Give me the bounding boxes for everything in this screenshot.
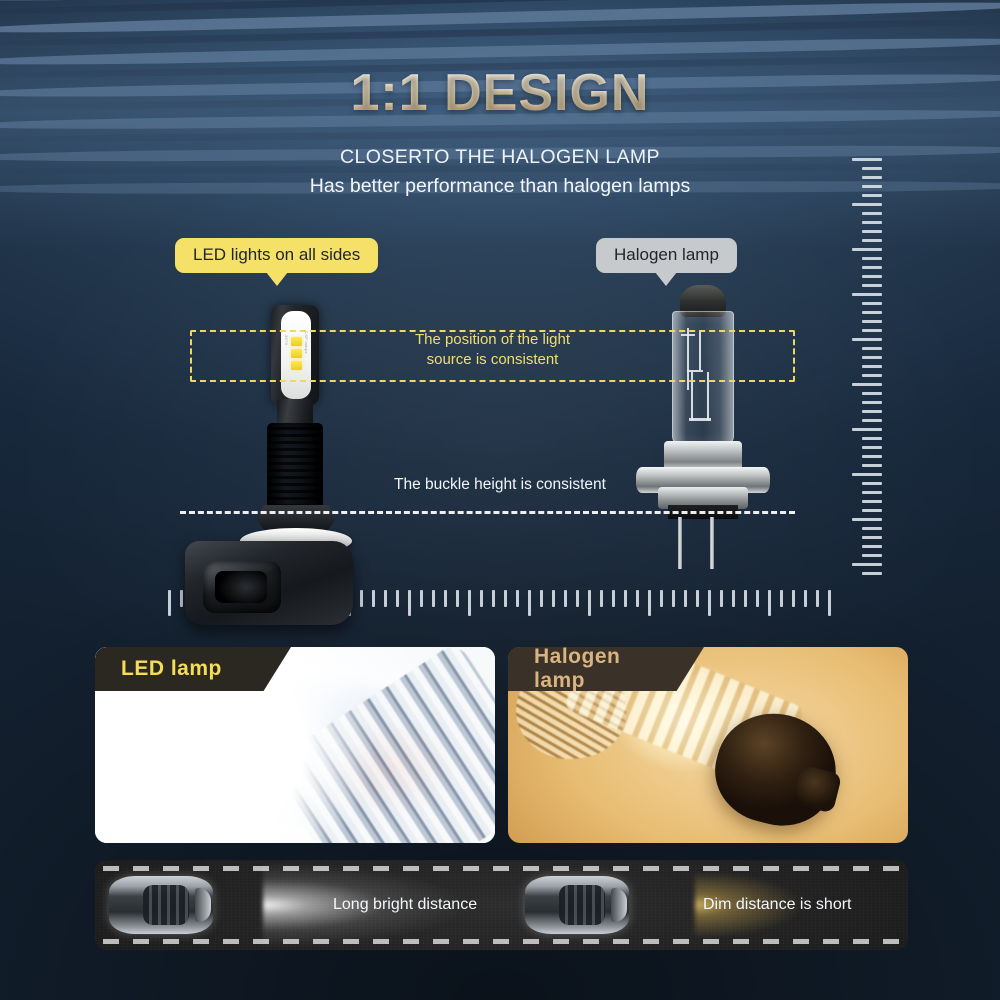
ruler-tick	[468, 590, 471, 616]
ruler-tick	[862, 572, 882, 575]
beam-comparison-strip: Long bright distance Dim distance is sho…	[95, 860, 908, 950]
ruler-tick	[684, 590, 687, 607]
ruler-tick	[636, 590, 639, 607]
callout-tail-icon	[266, 272, 288, 286]
ruler-tick	[852, 248, 882, 251]
ruler-tick	[720, 590, 723, 607]
ruler-tick	[432, 590, 435, 607]
ruler-tick	[862, 176, 882, 179]
callout-led-label: LED lights on all sides	[193, 245, 360, 264]
ruler-tick	[708, 590, 711, 616]
page-title: 1:1 DESIGN	[0, 63, 1000, 123]
ruler-tick	[862, 212, 882, 215]
ruler-tick	[384, 590, 387, 607]
ruler-tick	[862, 455, 882, 458]
ruler-tick	[816, 590, 819, 607]
ruler-tick	[660, 590, 663, 607]
ruler-tick	[360, 590, 363, 607]
ruler-tick	[492, 590, 495, 607]
vertical-ruler	[840, 158, 882, 588]
ruler-tick	[862, 185, 882, 188]
halogen-panel-banner: Halogen lamp	[508, 647, 704, 691]
ruler-tick	[862, 302, 882, 305]
ruler-tick	[862, 374, 882, 377]
callout-tail-icon	[655, 272, 677, 286]
ruler-tick	[862, 320, 882, 323]
beam-label-long-bright: Long bright distance	[333, 896, 477, 914]
ruler-tick	[852, 518, 882, 521]
ruler-tick	[552, 590, 555, 607]
callout-halogen-lamp: Halogen lamp	[596, 238, 737, 273]
ruler-tick	[696, 590, 699, 607]
car-nose-icon	[611, 888, 627, 922]
led-heatsink-fins	[267, 423, 323, 509]
ruler-tick	[588, 590, 591, 616]
halogen-filament-icon	[689, 418, 711, 421]
ruler-tick	[564, 590, 567, 607]
callout-led-lights: LED lights on all sides	[175, 238, 378, 273]
light-source-line-2: source is consistent	[0, 350, 985, 370]
ruler-tick	[804, 590, 807, 607]
ruler-tick	[862, 491, 882, 494]
ruler-tick	[744, 590, 747, 607]
ruler-tick	[168, 590, 171, 616]
beam-label-dim-short: Dim distance is short	[703, 896, 852, 914]
ruler-tick	[862, 401, 882, 404]
ruler-tick	[862, 482, 882, 485]
ruler-tick	[180, 590, 183, 607]
ruler-tick	[862, 527, 882, 530]
ruler-tick	[756, 590, 759, 607]
ruler-tick	[480, 590, 483, 607]
ruler-tick	[862, 392, 882, 395]
light-source-annotation: The position of the light source is cons…	[0, 330, 985, 370]
ruler-tick	[862, 221, 882, 224]
ruler-tick	[852, 158, 882, 161]
halogen-pin-icon	[678, 517, 682, 569]
buckle-height-annotation: The buckle height is consistent	[330, 476, 670, 494]
ruler-tick	[852, 383, 882, 386]
ruler-tick	[862, 230, 882, 233]
led-panel-banner-label: LED lamp	[121, 657, 222, 681]
car-cabin-icon	[143, 885, 189, 925]
car-cabin-icon	[559, 885, 605, 925]
ruler-tick	[862, 419, 882, 422]
ruler-tick	[456, 590, 459, 607]
ruler-tick	[852, 428, 882, 431]
ruler-tick	[792, 590, 795, 607]
ruler-tick	[540, 590, 543, 607]
ruler-tick	[862, 554, 882, 557]
ruler-tick	[862, 464, 882, 467]
halogen-panel-banner-label: Halogen lamp	[534, 647, 670, 693]
ruler-tick	[852, 473, 882, 476]
buckle-height-dashed-line	[180, 511, 795, 514]
ruler-tick	[862, 437, 882, 440]
infographic-root: 1:1 DESIGN CLOSERTO THE HALOGEN LAMP Has…	[0, 0, 1000, 1000]
led-socket-port	[203, 561, 281, 613]
led-photo-panel: LED lamp	[95, 647, 495, 843]
ruler-tick	[408, 590, 411, 616]
ruler-tick	[862, 545, 882, 548]
ruler-tick	[862, 284, 882, 287]
car-top-view-halogen	[525, 876, 629, 934]
ruler-tick	[516, 590, 519, 607]
halogen-photo-panel: Halogen lamp	[508, 647, 908, 843]
ruler-tick	[862, 509, 882, 512]
ruler-tick	[372, 590, 375, 607]
ruler-tick	[444, 590, 447, 607]
ruler-tick	[862, 536, 882, 539]
halogen-pin-icon	[710, 517, 714, 569]
ruler-tick	[732, 590, 735, 607]
ruler-tick	[852, 563, 882, 566]
car-nose-icon	[195, 888, 211, 922]
ruler-tick	[396, 590, 399, 607]
ruler-tick	[576, 590, 579, 607]
led-connector-base	[185, 541, 353, 625]
ruler-tick	[862, 194, 882, 197]
ruler-tick	[862, 266, 882, 269]
ruler-tick	[862, 167, 882, 170]
light-source-line-1: The position of the light	[0, 330, 985, 350]
ruler-tick	[828, 590, 831, 616]
ruler-tick	[862, 239, 882, 242]
car-top-view-led	[109, 876, 213, 934]
ruler-tick	[600, 590, 603, 607]
callout-halogen-label: Halogen lamp	[614, 245, 719, 264]
ruler-tick	[612, 590, 615, 607]
ruler-tick	[672, 590, 675, 607]
ruler-tick	[780, 590, 783, 607]
ruler-tick	[768, 590, 771, 616]
ruler-tick	[420, 590, 423, 607]
led-panel-banner: LED lamp	[95, 647, 291, 691]
ruler-tick	[852, 293, 882, 296]
ruler-tick	[528, 590, 531, 616]
ruler-tick	[862, 311, 882, 314]
ruler-tick	[852, 203, 882, 206]
ruler-tick	[862, 257, 882, 260]
ruler-tick	[624, 590, 627, 607]
ruler-tick	[862, 275, 882, 278]
ruler-tick	[648, 590, 651, 616]
ruler-tick	[862, 410, 882, 413]
ruler-tick	[504, 590, 507, 607]
ruler-tick	[862, 446, 882, 449]
ruler-tick	[862, 500, 882, 503]
